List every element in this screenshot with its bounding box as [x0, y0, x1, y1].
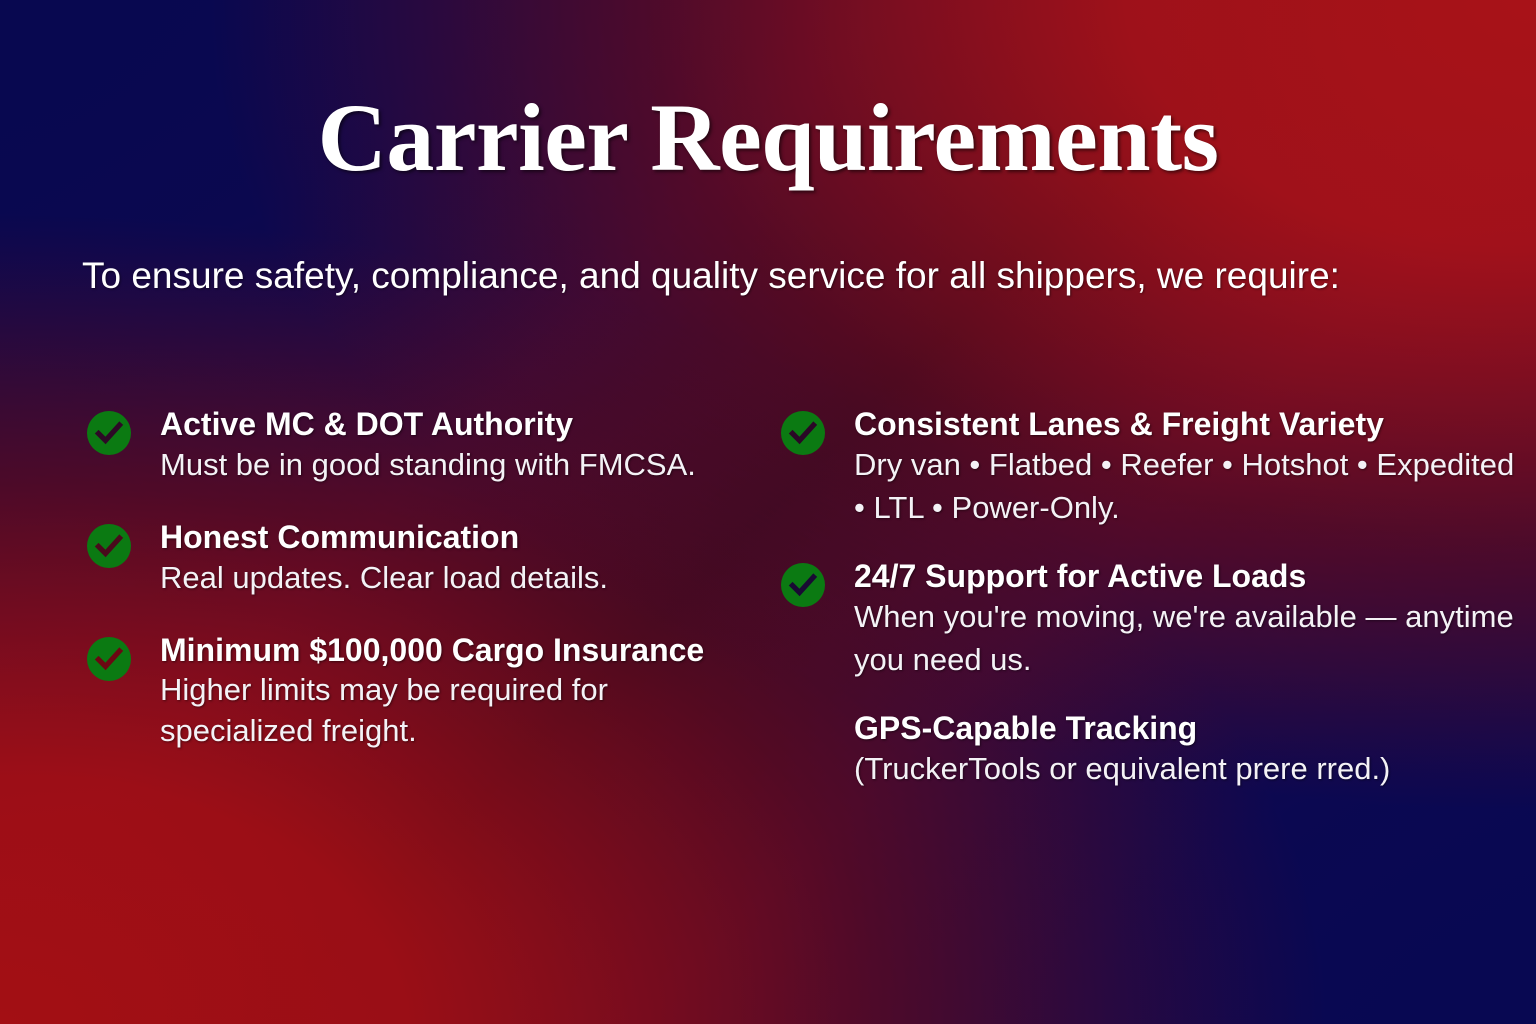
requirement-item: Consistent Lanes & Freight Variety Dry v…	[780, 404, 1518, 530]
requirement-body: GPS-Capable Tracking (TruckerTools or eq…	[854, 708, 1518, 791]
requirement-body: 24/7 Support for Active Loads When you'r…	[854, 556, 1518, 682]
check-circle-icon	[86, 636, 132, 682]
requirement-desc: Higher limits may be required for specia…	[160, 670, 760, 752]
subtitle-text: To ensure safety, compliance, and qualit…	[82, 246, 1452, 306]
requirement-title: 24/7 Support for Active Loads	[854, 556, 1518, 596]
requirement-item: Minimum $100,000 Cargo Insurance Higher …	[86, 630, 760, 752]
requirement-desc: (TruckerTools or equivalent prere rred.)	[854, 748, 1518, 791]
requirement-title: GPS-Capable Tracking	[854, 708, 1518, 748]
requirement-body: Honest Communication Real updates. Clear…	[160, 517, 760, 600]
check-circle-icon	[86, 523, 132, 569]
page-title: Carrier Requirements	[0, 88, 1536, 189]
left-column: Active MC & DOT Authority Must be in goo…	[0, 404, 780, 782]
requirement-desc: Real updates. Clear load details.	[160, 557, 760, 600]
requirement-title: Honest Communication	[160, 517, 760, 557]
requirement-title: Consistent Lanes & Freight Variety	[854, 404, 1518, 444]
slide-canvas: Carrier Requirements To ensure safety, c…	[0, 0, 1536, 1024]
requirement-title: Active MC & DOT Authority	[160, 404, 760, 444]
requirements-columns: Active MC & DOT Authority Must be in goo…	[0, 404, 1536, 817]
check-circle-icon	[780, 562, 826, 608]
requirement-desc: Dry van • Flatbed • Reefer • Hotshot • E…	[854, 444, 1518, 530]
requirement-desc: When you're moving, we're available — an…	[854, 596, 1518, 682]
right-column: Consistent Lanes & Freight Variety Dry v…	[780, 404, 1536, 817]
requirement-body: Minimum $100,000 Cargo Insurance Higher …	[160, 630, 760, 752]
requirement-desc: Must be in good standing with FMCSA.	[160, 444, 760, 487]
requirement-body: Active MC & DOT Authority Must be in goo…	[160, 404, 760, 487]
requirement-item: GPS-Capable Tracking (TruckerTools or eq…	[780, 708, 1518, 791]
check-circle-icon	[86, 410, 132, 456]
requirement-body: Consistent Lanes & Freight Variety Dry v…	[854, 404, 1518, 530]
requirement-item: Active MC & DOT Authority Must be in goo…	[86, 404, 760, 487]
requirement-item: Honest Communication Real updates. Clear…	[86, 517, 760, 600]
requirement-item: 24/7 Support for Active Loads When you'r…	[780, 556, 1518, 682]
check-circle-icon	[780, 410, 826, 456]
requirement-title: Minimum $100,000 Cargo Insurance	[160, 630, 760, 670]
